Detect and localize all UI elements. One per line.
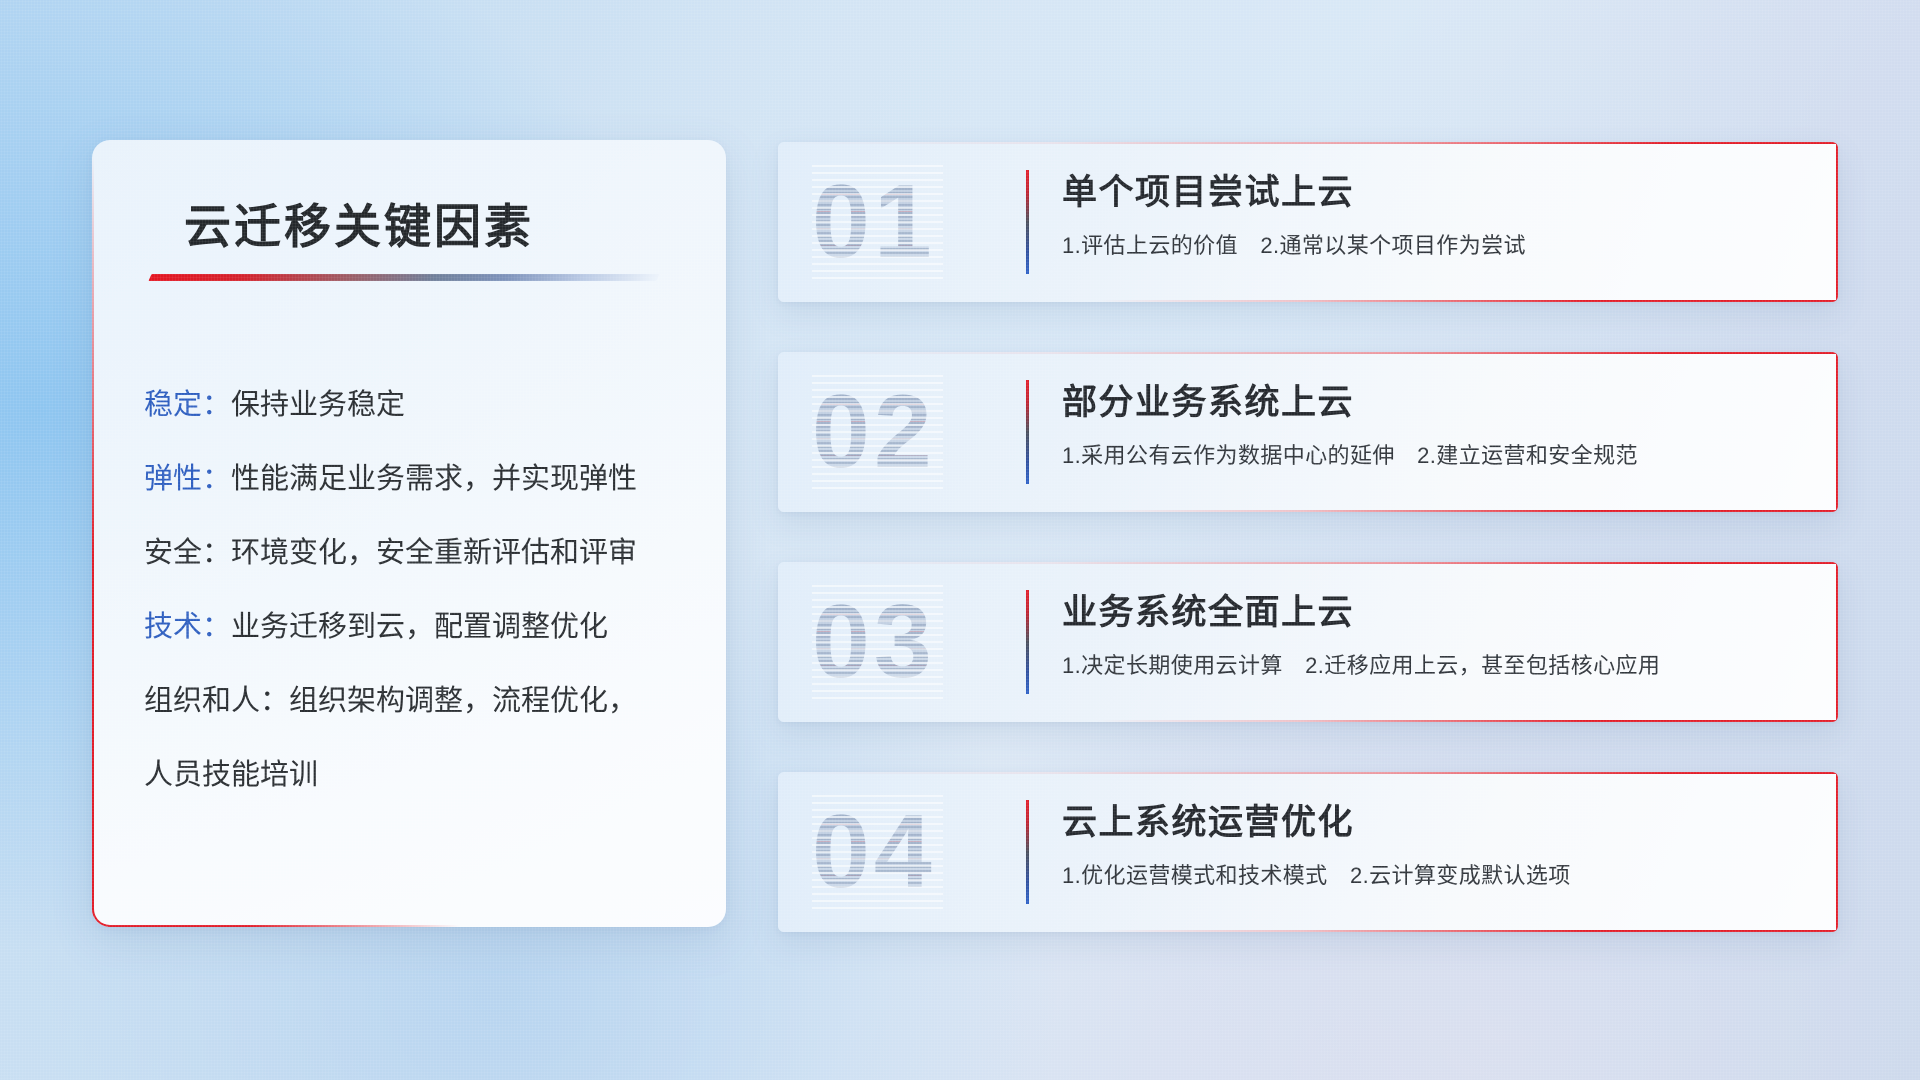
list-item: 人员技能培训 (144, 738, 690, 812)
panel-bottom-accent-line (108, 925, 460, 927)
stage-number: 03 (812, 580, 1002, 704)
list-item: 技术：业务迁移到云，配置调整优化 (144, 590, 690, 664)
stage-content: 单个项目尝试上云 1.评估上云的价值 2.通常以某个项目作为尝试 (1062, 168, 1798, 262)
stage-number-glyph: 02 (812, 370, 936, 494)
title-underline-rule (148, 274, 659, 281)
factor-label: 技术： (144, 611, 231, 643)
factor-label: 组织和人： (144, 685, 289, 717)
stage-content: 云上系统运营优化 1.优化运营模式和技术模式 2.云计算变成默认选项 (1062, 798, 1798, 892)
stage-divider-line (1026, 800, 1029, 904)
card-bottom-accent-border (1096, 720, 1838, 722)
factor-label: 稳定： (144, 389, 231, 421)
factor-value: 人员技能培训 (144, 759, 318, 791)
stage-content: 业务系统全面上云 1.决定长期使用云计算 2.迁移应用上云，甚至包括核心应用 (1062, 588, 1798, 682)
stage-description: 1.优化运营模式和技术模式 2.云计算变成默认选项 (1062, 860, 1798, 892)
stage-divider-line (1026, 170, 1029, 274)
panel-left-accent-line (92, 154, 94, 927)
stage-description: 1.评估上云的价值 2.通常以某个项目作为尝试 (1062, 230, 1798, 262)
card-bottom-accent-border (1096, 300, 1838, 302)
stage-number: 01 (812, 160, 1002, 284)
stage-card-01[interactable]: 01 单个项目尝试上云 1.评估上云的价值 2.通常以某个项目作为尝试 (778, 142, 1838, 302)
factor-label: 弹性： (144, 463, 231, 495)
factor-value: 业务迁移到云，配置调整优化 (231, 611, 608, 643)
stage-content: 部分业务系统上云 1.采用公有云作为数据中心的延伸 2.建立运营和安全规范 (1062, 378, 1798, 472)
stage-number: 02 (812, 370, 1002, 494)
key-factors-panel: 云迁移关键因素 稳定：保持业务稳定 弹性：性能满足业务需求，并实现弹性 安全：环… (92, 140, 726, 927)
stage-title: 单个项目尝试上云 (1062, 168, 1798, 218)
page-title: 云迁移关键因素 (184, 188, 534, 257)
card-top-accent-border (778, 352, 1838, 354)
stage-title: 业务系统全面上云 (1062, 588, 1798, 638)
factor-value: 环境变化，安全重新评估和评审 (231, 537, 637, 569)
stage-number: 04 (812, 790, 1002, 914)
factor-label: 安全： (144, 537, 231, 569)
stage-card-02[interactable]: 02 部分业务系统上云 1.采用公有云作为数据中心的延伸 2.建立运营和安全规范 (778, 352, 1838, 512)
stage-divider-line (1026, 380, 1029, 484)
list-item: 安全：环境变化，安全重新评估和评审 (144, 516, 690, 590)
stage-card-04[interactable]: 04 云上系统运营优化 1.优化运营模式和技术模式 2.云计算变成默认选项 (778, 772, 1838, 932)
card-bottom-accent-border (1096, 930, 1838, 932)
card-right-accent-border (1836, 142, 1838, 302)
card-bottom-accent-border (1096, 510, 1838, 512)
card-top-accent-border (778, 142, 1838, 144)
card-right-accent-border (1836, 562, 1838, 722)
card-top-accent-border (778, 562, 1838, 564)
stage-number-glyph: 03 (812, 580, 936, 704)
stage-divider-line (1026, 590, 1029, 694)
factor-value: 保持业务稳定 (231, 389, 405, 421)
stage-title: 云上系统运营优化 (1062, 798, 1798, 848)
list-item: 弹性：性能满足业务需求，并实现弹性 (144, 442, 690, 516)
stage-title: 部分业务系统上云 (1062, 378, 1798, 428)
panel-corner-accent (92, 905, 114, 927)
factor-value: 性能满足业务需求，并实现弹性 (231, 463, 637, 495)
stage-number-glyph: 04 (812, 790, 936, 914)
stage-description: 1.采用公有云作为数据中心的延伸 2.建立运营和安全规范 (1062, 440, 1798, 472)
card-top-accent-border (778, 772, 1838, 774)
key-factors-list: 稳定：保持业务稳定 弹性：性能满足业务需求，并实现弹性 安全：环境变化，安全重新… (144, 368, 690, 812)
slide-canvas: 云迁移关键因素 稳定：保持业务稳定 弹性：性能满足业务需求，并实现弹性 安全：环… (0, 0, 1920, 1080)
stage-description: 1.决定长期使用云计算 2.迁移应用上云，甚至包括核心应用 (1062, 650, 1798, 682)
stage-card-03[interactable]: 03 业务系统全面上云 1.决定长期使用云计算 2.迁移应用上云，甚至包括核心应… (778, 562, 1838, 722)
stage-number-glyph: 01 (812, 160, 936, 284)
factor-value: 组织架构调整，流程优化， (289, 685, 637, 717)
card-right-accent-border (1836, 352, 1838, 512)
list-item: 组织和人：组织架构调整，流程优化， (144, 664, 690, 738)
card-right-accent-border (1836, 772, 1838, 932)
list-item: 稳定：保持业务稳定 (144, 368, 690, 442)
